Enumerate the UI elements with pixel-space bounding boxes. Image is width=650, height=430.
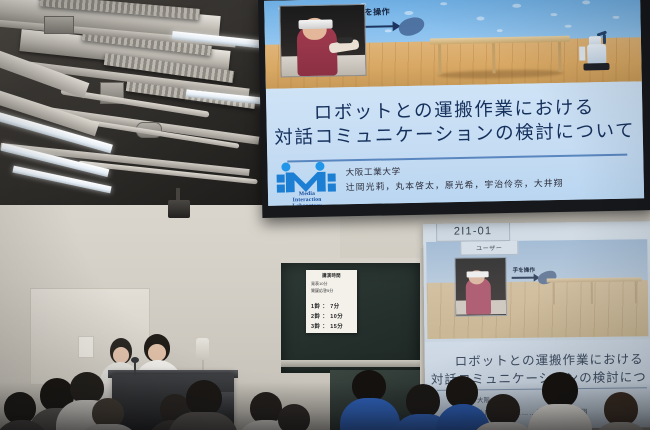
secondary-slide-diagram: ユーザー 手を操作 xyxy=(426,239,648,339)
audience-member xyxy=(592,392,650,430)
presentation-room-photo: 講演時間 発表10分 質疑応答5分 1鈴 ： 7分 2鈴 ： 10分 3鈴 ： … xyxy=(0,0,650,430)
sign-bell-rows: 1鈴 ： 7分 2鈴 ： 10分 3鈴 ： 15分 xyxy=(311,300,343,330)
sign-bell-row: 1鈴 ： 7分 xyxy=(311,302,343,310)
audience-member xyxy=(262,404,326,430)
vr-user-icon xyxy=(454,257,507,317)
robot-icon xyxy=(583,32,610,73)
slide-diagram: 手を操作 xyxy=(264,0,642,89)
slide-affiliation: 大阪工業大学 xyxy=(345,165,400,178)
slide-title-area: ロボットとの運搬作業における 対話コミュニケーションの検討について Media … xyxy=(266,81,644,206)
audience-member xyxy=(340,370,400,430)
lab-logo: Media Interaction Laboratory xyxy=(275,161,338,205)
main-slide: 手を操作 ロボットとの運搬作業における 対話コミュニケーションの検討 xyxy=(264,0,644,206)
session-id-tag: 2I1-01 xyxy=(436,221,510,242)
presentation-time-sign: 講演時間 発表10分 質疑応答5分 1鈴 ： 7分 2鈴 ： 10分 3鈴 ： … xyxy=(306,270,357,333)
microphone-stand xyxy=(134,362,136,376)
ceiling-projector xyxy=(168,200,190,218)
logo-text-laboratory: Laboratory xyxy=(276,202,338,205)
logo-m-mark xyxy=(286,172,326,193)
audience-member xyxy=(470,394,536,430)
ceiling-structure xyxy=(0,0,272,205)
slide-divider xyxy=(287,154,627,162)
sign-line-2: 質疑応答5分 xyxy=(311,288,333,294)
audience-member xyxy=(76,398,140,430)
audience-member xyxy=(168,380,238,430)
blackboard-chalk-rail xyxy=(281,360,420,367)
slide-authors: 辻岡光莉，丸本啓太，原光希，宇治伶奈，大井翔 xyxy=(346,176,564,193)
audience-member xyxy=(0,392,50,430)
sign-title: 講演時間 xyxy=(322,273,341,279)
microphone-icon xyxy=(131,357,139,363)
sign-bell-row: 3鈴 ： 15分 xyxy=(311,322,343,330)
table-icon xyxy=(547,277,642,304)
sign-bell-row: 2鈴 ： 10分 xyxy=(311,312,343,320)
secondary-user-label: ユーザー xyxy=(460,240,518,256)
arrow-right-icon xyxy=(512,272,548,282)
wall-phone xyxy=(196,338,209,360)
wall-notice-paper xyxy=(78,336,94,358)
main-projection-screen: 手を操作 ロボットとの運搬作業における 対話コミュニケーションの検討 xyxy=(258,0,650,218)
audience-member xyxy=(528,372,592,430)
table-icon xyxy=(430,36,571,75)
vr-user-icon xyxy=(279,4,366,78)
sign-line-1: 発表10分 xyxy=(311,281,327,287)
